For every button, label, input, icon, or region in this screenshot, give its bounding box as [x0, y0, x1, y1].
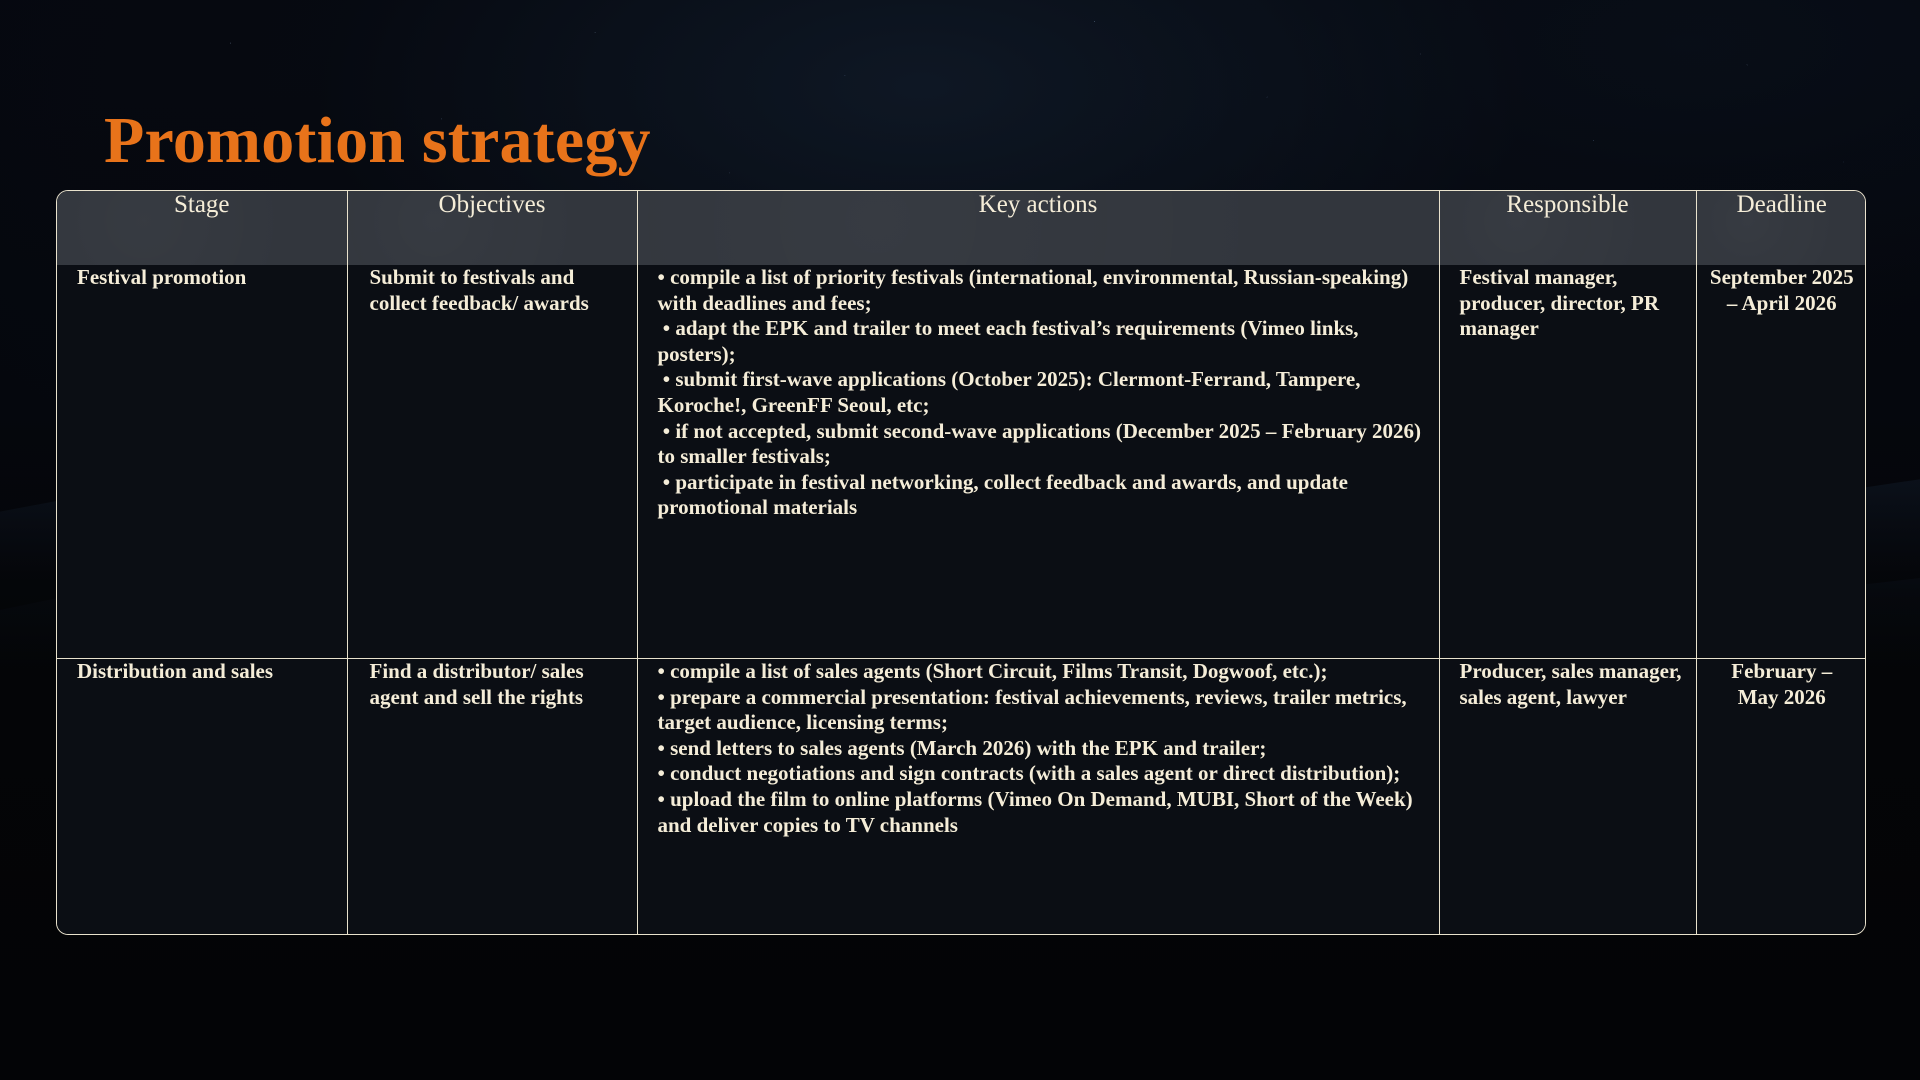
key-action-item: • compile a list of priority festivals (…	[658, 265, 1423, 316]
cell-stage: Distribution and sales	[57, 658, 347, 934]
key-actions-list: • compile a list of priority festivals (…	[658, 265, 1423, 521]
cell-responsible: Festival manager, producer, director, PR…	[1439, 265, 1696, 658]
strategy-grid: Stage Objectives Key actions Responsible…	[57, 191, 1866, 934]
column-header-stage: Stage	[57, 191, 347, 265]
key-action-item: • conduct negotiations and sign contract…	[658, 761, 1423, 787]
column-header-deadline: Deadline	[1696, 191, 1866, 265]
key-action-item: • adapt the EPK and trailer to meet each…	[658, 316, 1423, 367]
key-action-item: • compile a list of sales agents (Short …	[658, 659, 1423, 685]
cell-key-actions: • compile a list of priority festivals (…	[637, 265, 1439, 658]
table-body: Festival promotionSubmit to festivals an…	[57, 265, 1866, 934]
column-header-objectives: Objectives	[347, 191, 637, 265]
header-row: Stage Objectives Key actions Responsible…	[57, 191, 1866, 265]
key-action-item: • if not accepted, submit second-wave ap…	[658, 419, 1423, 470]
key-action-item: • send letters to sales agents (March 20…	[658, 736, 1423, 762]
cell-responsible: Producer, sales manager, sales agent, la…	[1439, 658, 1696, 934]
table-row: Distribution and salesFind a distributor…	[57, 658, 1866, 934]
column-header-responsible: Responsible	[1439, 191, 1696, 265]
slide-canvas: Promotion strategy Stage Objectives Key …	[0, 0, 1920, 1080]
cell-objectives: Submit to festivals and collect feedback…	[347, 265, 637, 658]
key-action-item: • participate in festival networking, co…	[658, 470, 1423, 521]
key-actions-list: • compile a list of sales agents (Short …	[658, 659, 1423, 838]
key-action-item: • prepare a commercial presentation: fes…	[658, 685, 1423, 736]
table-header: Stage Objectives Key actions Responsible…	[57, 191, 1866, 265]
cell-key-actions: • compile a list of sales agents (Short …	[637, 658, 1439, 934]
page-title: Promotion strategy	[104, 106, 651, 176]
table-row: Festival promotionSubmit to festivals an…	[57, 265, 1866, 658]
column-header-key-actions: Key actions	[637, 191, 1439, 265]
key-action-item: • submit first-wave applications (Octobe…	[658, 367, 1423, 418]
cell-deadline: February – May 2026	[1696, 658, 1866, 934]
cell-deadline: September 2025 – April 2026	[1696, 265, 1866, 658]
cell-objectives: Find a distributor/ sales agent and sell…	[347, 658, 637, 934]
promotion-strategy-table: Stage Objectives Key actions Responsible…	[56, 190, 1866, 935]
key-action-item: • upload the film to online platforms (V…	[658, 787, 1423, 838]
cell-stage: Festival promotion	[57, 265, 347, 658]
